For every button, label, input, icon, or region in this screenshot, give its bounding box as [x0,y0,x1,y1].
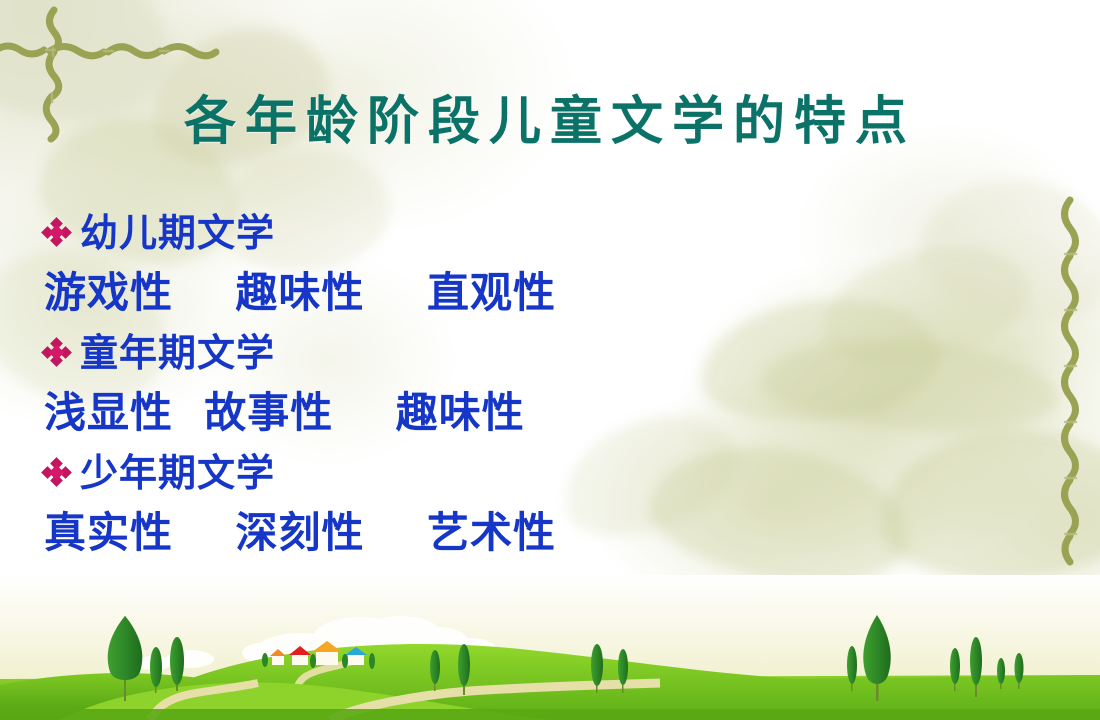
watermark-petal [757,330,1063,441]
watermark-petal [875,421,1100,589]
slide-canvas: 各年龄阶段儿童文学的特点 幼儿期文学 游戏性 趣味性 直观性 童年期文学 浅显性… [0,0,1100,720]
content-group: 少年期文学 真实性 深刻性 艺术性 [44,446,744,566]
bamboo-stalk-icon [1050,196,1090,576]
diamond-bullet-icon [44,340,70,366]
bullet-heading-row: 幼儿期文学 [44,206,744,260]
watermark-petal [810,226,1040,384]
ground-strip [0,709,1100,720]
group-heading: 少年期文学 [80,454,275,492]
content-block: 幼儿期文学 游戏性 趣味性 直观性 童年期文学 浅显性 故事性 趣味性 少年期文… [44,206,744,566]
diamond-bullet-icon [44,460,70,486]
slide-title: 各年龄阶段儿童文学的特点 [0,96,1100,148]
landscape-illustration [0,575,1100,720]
content-group: 幼儿期文学 游戏性 趣味性 直观性 [44,206,744,326]
content-group: 童年期文学 浅显性 故事性 趣味性 [44,326,744,446]
diamond-bullet-icon [44,220,70,246]
bullet-heading-row: 童年期文学 [44,326,744,380]
watermark-petal [908,161,1100,340]
group-traits: 浅显性 故事性 趣味性 [44,380,744,446]
group-traits: 游戏性 趣味性 直观性 [44,260,744,326]
bullet-heading-row: 少年期文学 [44,446,744,500]
group-heading: 童年期文学 [80,334,275,372]
group-traits: 真实性 深刻性 艺术性 [44,500,744,566]
bamboo-vertical-vine-decor [1050,196,1090,576]
group-heading: 幼儿期文学 [80,214,275,252]
hills-scene-icon [0,575,1100,720]
